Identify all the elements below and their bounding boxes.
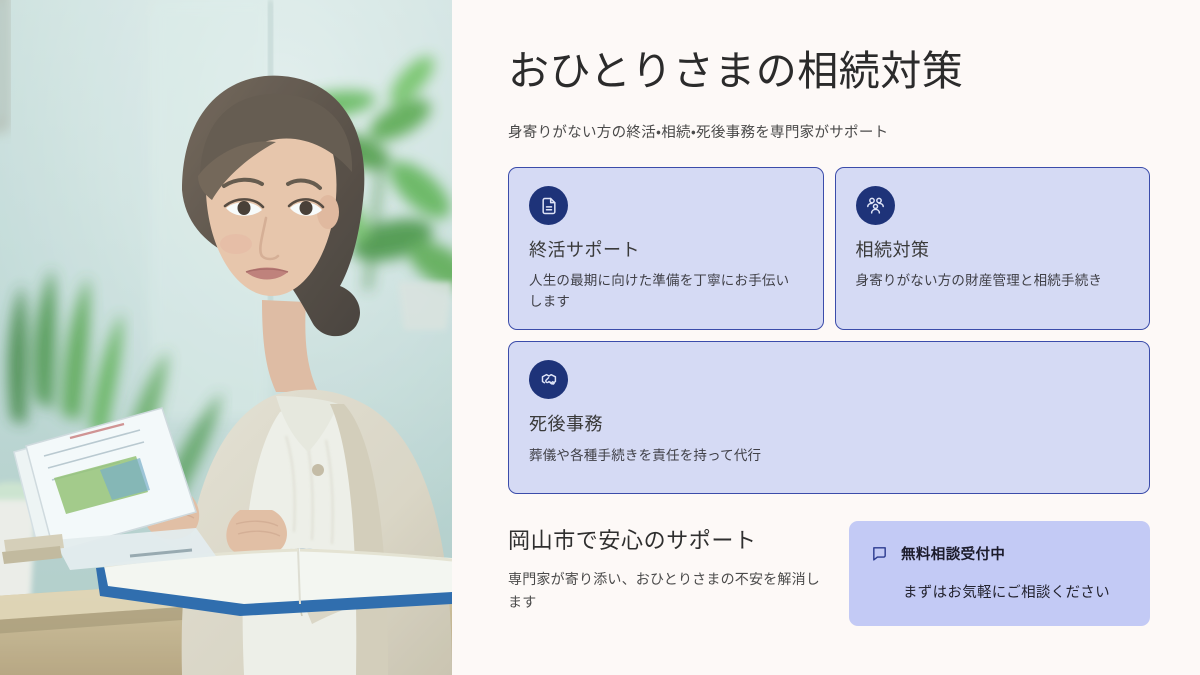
handshake-icon xyxy=(529,360,568,399)
service-card-shigojimu[interactable]: 死後事務 葬儀や各種手続きを責任を持って代行 xyxy=(508,341,1150,493)
service-card-title: 死後事務 xyxy=(529,413,1129,436)
service-card-desc: 身寄りがない方の財産管理と相続手続き xyxy=(856,271,1130,292)
cta-header: 無料相談受付中 xyxy=(871,543,1126,564)
section-heading: 岡山市で安心のサポート xyxy=(508,527,823,556)
cta-title: 無料相談受付中 xyxy=(901,543,1005,564)
service-card-title: 相続対策 xyxy=(856,239,1130,262)
service-card-desc: 人生の最期に向けた準備を丁寧にお手伝いします xyxy=(529,271,803,313)
cta-subtitle: まずはお気軽にご相談ください xyxy=(903,581,1126,602)
service-card-shukatsu[interactable]: 終活サポート 人生の最期に向けた準備を丁寧にお手伝いします xyxy=(508,167,824,330)
service-card-title: 終活サポート xyxy=(529,239,803,262)
content-panel: おひとりさまの相続対策 身寄りがない方の終活・相続・死後事務を専門家がサポート … xyxy=(452,0,1200,675)
page-title: おひとりさまの相続対策 xyxy=(508,46,1150,97)
free-consultation-cta[interactable]: 無料相談受付中 まずはお気軽にご相談ください xyxy=(849,521,1150,626)
bottom-row: 岡山市で安心のサポート 専門家が寄り添い、おひとりさまの不安を解消します 無料相… xyxy=(508,521,1150,626)
hero-photo-illustration xyxy=(0,0,452,675)
hero-photo xyxy=(0,0,452,675)
service-card-desc: 葬儀や各種手続きを責任を持って代行 xyxy=(529,446,1129,467)
support-section: 岡山市で安心のサポート 専門家が寄り添い、おひとりさまの不安を解消します xyxy=(508,521,823,613)
slide-root: おひとりさまの相続対策 身寄りがない方の終活・相続・死後事務を専門家がサポート … xyxy=(0,0,1200,675)
document-icon xyxy=(529,186,568,225)
speech-bubble-icon xyxy=(871,545,888,562)
family-users-icon xyxy=(856,186,895,225)
service-card-souzoku[interactable]: 相続対策 身寄りがない方の財産管理と相続手続き xyxy=(835,167,1151,330)
service-card-grid: 終活サポート 人生の最期に向けた準備を丁寧にお手伝いします 相続対策 身寄りがな… xyxy=(508,167,1150,330)
page-subtitle: 身寄りがない方の終活・相続・死後事務を専門家がサポート xyxy=(508,123,1150,145)
section-text: 専門家が寄り添い、おひとりさまの不安を解消します xyxy=(508,568,823,613)
